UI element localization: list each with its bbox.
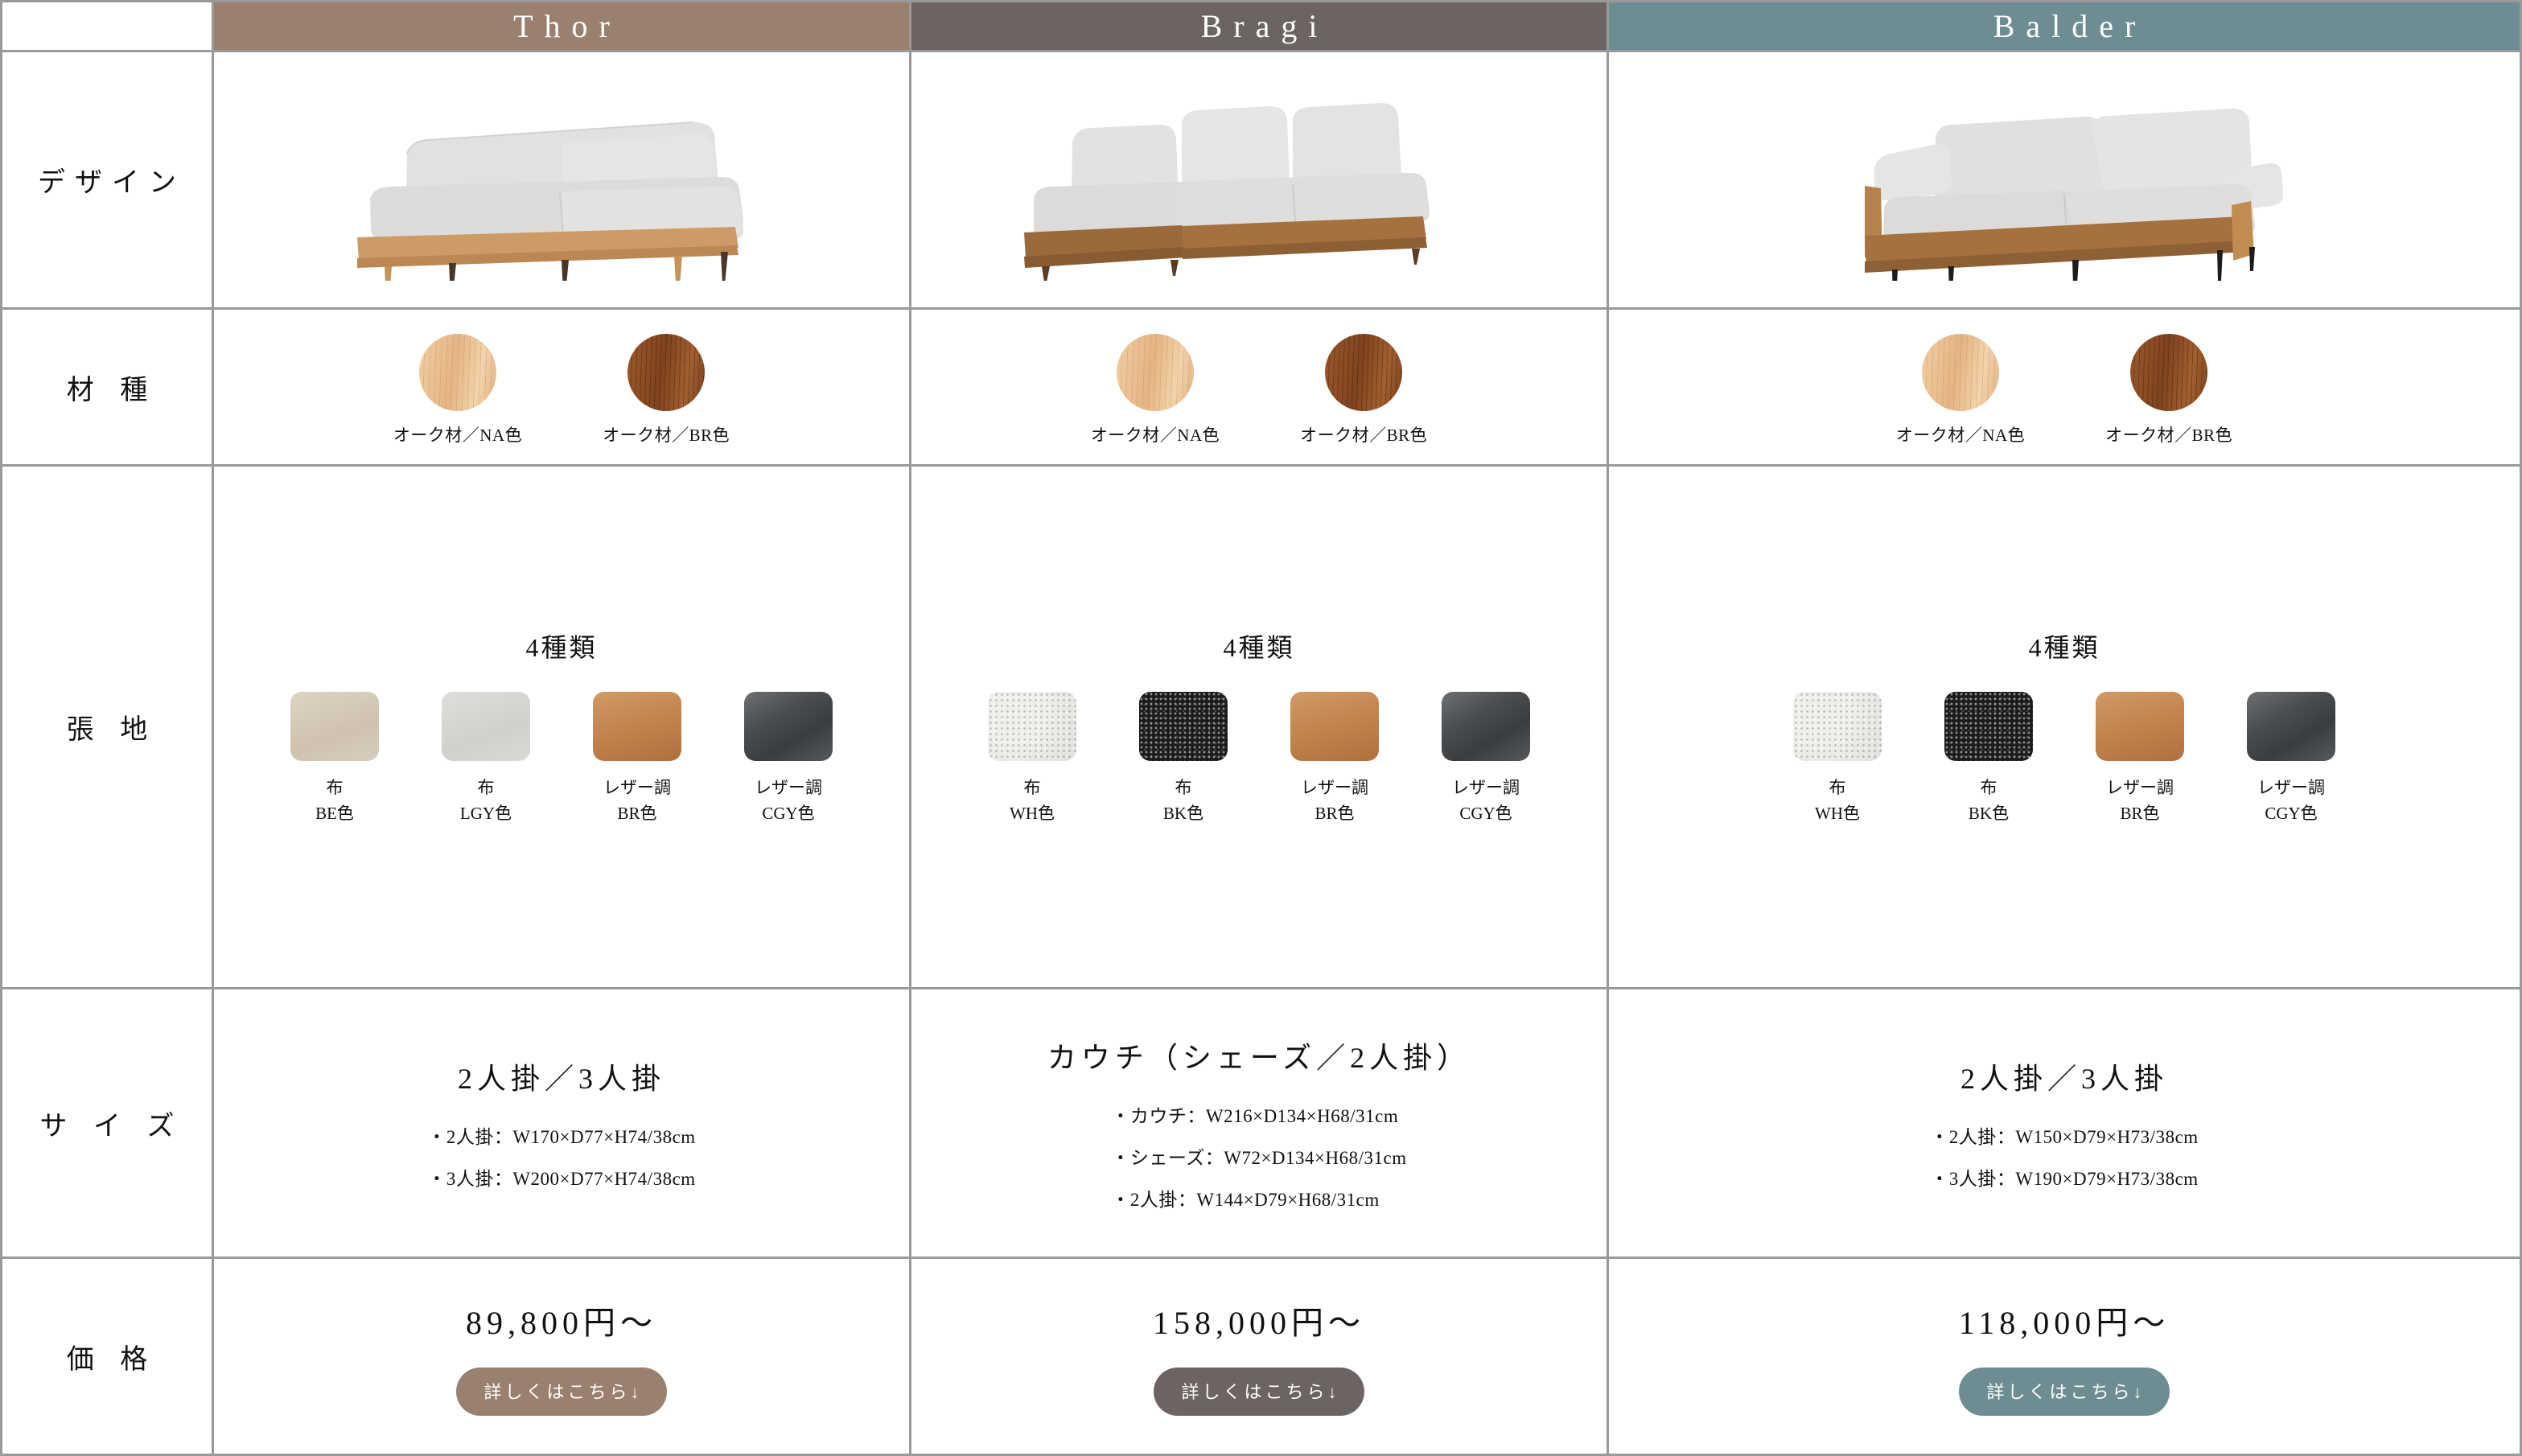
detail-link-button-balder[interactable]: 詳しくはこちら↓ (1959, 1368, 2169, 1416)
fabric-swatch-item[interactable]: レザー調 BR色 (1282, 692, 1387, 826)
fabric-color-code: BK色 (1969, 804, 2009, 823)
fabric-swatch-item[interactable]: 布 WH色 (980, 692, 1084, 826)
boucle-white-swatch-icon (988, 692, 1076, 761)
row-label-text: 張 地 (57, 707, 158, 747)
leather-charcoal-gray-swatch-icon (1442, 692, 1530, 761)
fabric-type: レザー調 (2106, 778, 2174, 797)
row-label-text: 材 種 (57, 368, 158, 407)
size-detail-list: ・2人掛：W170×D77×H74/38cm ・3人掛：W200×D77×H74… (427, 1121, 695, 1191)
fabric-swatch-label: 布 WH色 (1815, 775, 1860, 826)
oak-natural-swatch-icon (419, 334, 496, 411)
fabric-type: レザー調 (755, 778, 822, 797)
fabric-color-code: CGY色 (762, 804, 814, 823)
fabric-swatch-label: レザー調 CGY色 (755, 775, 822, 826)
fabric-type: レザー調 (1452, 778, 1520, 797)
thor-sofa-illustration (320, 80, 803, 281)
design-cell-thor (214, 52, 911, 310)
fabric-type: 布 (1829, 778, 1846, 797)
oak-brown-swatch-icon (1325, 334, 1402, 411)
size-title: 2人掛／3人掛 (1960, 1055, 2168, 1097)
size-group: 2人掛／3人掛 ・2人掛：W150×D79×H73/38cm ・3人掛：W190… (1609, 989, 2520, 1257)
upholstery-group: 4種類 布 BE色 布 LGY色 (214, 467, 909, 987)
size-cell-balder: 2人掛／3人掛 ・2人掛：W150×D79×H73/38cm ・3人掛：W190… (1609, 989, 2522, 1259)
size-group: 2人掛／3人掛 ・2人掛：W170×D77×H74/38cm ・3人掛：W200… (214, 989, 909, 1257)
fabric-swatch-group: 布 WH色 布 BK色 レザー調 BR色 (1785, 692, 2343, 826)
leather-brown-swatch-icon (2096, 692, 2184, 761)
size-title: 2人掛／3人掛 (458, 1055, 665, 1097)
fabric-swatch-item[interactable]: 布 BK色 (1936, 692, 2041, 826)
wood-swatch-label: オーク材／BR色 (2105, 422, 2232, 446)
wood-swatch-group: オーク材／NA色 オーク材／BR色 (1609, 327, 2520, 446)
material-cell-bragi: オーク材／NA色 オーク材／BR色 (911, 310, 1609, 467)
wood-swatch-group: オーク材／NA色 オーク材／BR色 (911, 327, 1607, 446)
size-cell-thor: 2人掛／3人掛 ・2人掛：W170×D77×H74/38cm ・3人掛：W200… (214, 989, 911, 1259)
fabric-swatch-item[interactable]: 布 WH色 (1785, 692, 1890, 826)
row-label-text: サ イ ズ (31, 1104, 184, 1143)
fabric-swatch-label: レザー調 BR色 (2106, 775, 2174, 826)
price-group: 158,000円〜 詳しくはこちら↓ (911, 1259, 1607, 1454)
column-header-bragi: Bragi (911, 0, 1609, 52)
fabric-color-code: LGY色 (460, 804, 512, 823)
upholstery-cell-balder: 4種類 布 WH色 布 BK色 (1609, 467, 2522, 989)
size-detail-item: ・シェーズ：W72×D134×H68/31cm (1111, 1142, 1406, 1170)
material-cell-thor: オーク材／NA色 オーク材／BR色 (214, 310, 911, 467)
size-title: カウチ（シェーズ／2人掛） (1047, 1034, 1471, 1076)
boucle-white-swatch-icon (1793, 692, 1882, 761)
fabric-color-code: BR色 (617, 804, 656, 823)
upholstery-group: 4種類 布 WH色 布 BK色 (1609, 467, 2520, 987)
fabric-swatch-label: レザー調 BR色 (603, 775, 671, 826)
price-cell-balder: 118,000円〜 詳しくはこちら↓ (1609, 1259, 2522, 1456)
fabric-swatch-item[interactable]: レザー調 BR色 (585, 692, 689, 826)
row-label-design: デザイン (0, 52, 214, 310)
row-label-upholstery: 張 地 (0, 467, 214, 989)
size-detail-item: ・2人掛：W144×D79×H68/31cm (1111, 1184, 1406, 1211)
wood-swatch-item[interactable]: オーク材／NA色 (1896, 334, 2025, 446)
leather-charcoal-gray-swatch-icon (2247, 692, 2335, 761)
fabric-swatch-item[interactable]: 布 BK色 (1131, 692, 1236, 826)
fabric-color-code: WH色 (1815, 804, 1860, 823)
sofa-image-thor (214, 52, 909, 307)
balder-sofa-illustration (1815, 80, 2314, 281)
fabric-color-code: BR色 (2120, 804, 2159, 823)
fabric-type: 布 (327, 778, 344, 797)
wood-swatch-label: オーク材／NA色 (1091, 422, 1220, 446)
oak-brown-swatch-icon (627, 334, 705, 411)
leather-brown-swatch-icon (593, 692, 681, 761)
row-label-text: デザイン (28, 160, 186, 199)
fabric-type: レザー調 (2257, 778, 2325, 797)
fabric-type: 布 (477, 778, 494, 797)
fabric-swatch-label: 布 LGY色 (460, 775, 512, 826)
wood-swatch-item[interactable]: オーク材／NA色 (393, 334, 522, 446)
leather-brown-swatch-icon (1290, 692, 1379, 761)
sofa-image-bragi (911, 52, 1607, 307)
row-label-size: サ イ ズ (0, 989, 214, 1259)
boucle-black-swatch-icon (1944, 692, 2033, 761)
material-cell-balder: オーク材／NA色 オーク材／BR色 (1609, 310, 2522, 467)
fabric-color-code: BE色 (315, 804, 354, 823)
design-cell-bragi (911, 52, 1609, 310)
leather-charcoal-gray-swatch-icon (744, 692, 833, 761)
brand-name-label: Thor (502, 7, 621, 45)
row-label-text: 価 格 (57, 1337, 158, 1376)
fabric-swatch-item[interactable]: 布 LGY色 (434, 692, 538, 826)
row-label-price: 価 格 (0, 1259, 214, 1456)
size-cell-bragi: カウチ（シェーズ／2人掛） ・カウチ：W216×D134×H68/31cm ・シ… (911, 989, 1609, 1259)
fabric-swatch-label: レザー調 CGY色 (2257, 775, 2325, 826)
fabric-swatch-label: 布 WH色 (1010, 775, 1055, 826)
size-detail-item: ・2人掛：W150×D79×H73/38cm (1930, 1121, 2198, 1149)
sofa-image-balder (1609, 52, 2520, 307)
wood-swatch-group: オーク材／NA色 オーク材／BR色 (214, 327, 909, 446)
fabric-type: レザー調 (1301, 778, 1368, 797)
price-group: 118,000円〜 詳しくはこちら↓ (1609, 1259, 2520, 1454)
column-header-balder: Balder (1609, 0, 2522, 52)
upholstery-group: 4種類 布 WH色 布 BK色 (911, 467, 1607, 987)
wood-swatch-label: オーク材／NA色 (393, 422, 522, 446)
fabric-swatch-group: 布 BE色 布 LGY色 レザー調 BR色 (282, 692, 841, 826)
bragi-sofa-illustration (1010, 80, 1508, 281)
fabric-light-gray-swatch-icon (442, 692, 530, 761)
size-detail-item: ・3人掛：W200×D77×H74/38cm (427, 1163, 695, 1191)
fabric-color-code: BK色 (1163, 804, 1203, 823)
wood-swatch-item[interactable]: オーク材／BR色 (603, 334, 730, 446)
fabric-swatch-item[interactable]: レザー調 BR色 (2088, 692, 2192, 826)
detail-link-button-thor[interactable]: 詳しくはこちら↓ (456, 1368, 666, 1416)
oak-natural-swatch-icon (1922, 334, 1999, 411)
detail-link-button-bragi[interactable]: 詳しくはこちら↓ (1154, 1368, 1364, 1416)
upholstery-cell-thor: 4種類 布 BE色 布 LGY色 (214, 467, 911, 989)
fabric-swatch-item[interactable]: レザー調 CGY色 (736, 692, 841, 826)
upholstery-cell-bragi: 4種類 布 WH色 布 BK色 (911, 467, 1609, 989)
price-value: 118,000円〜 (1959, 1297, 2170, 1343)
price-cell-bragi: 158,000円〜 詳しくはこちら↓ (911, 1259, 1609, 1456)
upholstery-count-label: 4種類 (1223, 627, 1294, 664)
wood-swatch-item[interactable]: オーク材／BR色 (2105, 334, 2232, 446)
fabric-color-code: CGY色 (2265, 804, 2317, 823)
fabric-type: レザー調 (603, 778, 671, 797)
size-detail-item: ・2人掛：W170×D77×H74/38cm (427, 1121, 695, 1149)
fabric-color-code: BR色 (1314, 804, 1354, 823)
wood-swatch-item[interactable]: オーク材／NA色 (1091, 334, 1220, 446)
wood-swatch-label: オーク材／BR色 (1300, 422, 1427, 446)
brand-name-label: Bragi (1190, 7, 1329, 45)
fabric-type: 布 (1024, 778, 1041, 797)
oak-brown-swatch-icon (2130, 334, 2207, 411)
upholstery-count-label: 4種類 (2028, 627, 2100, 664)
size-detail-item: ・カウチ：W216×D134×H68/31cm (1111, 1100, 1406, 1128)
column-header-thor: Thor (214, 0, 911, 52)
row-label-material: 材 種 (0, 310, 214, 467)
size-group: カウチ（シェーズ／2人掛） ・カウチ：W216×D134×H68/31cm ・シ… (911, 989, 1607, 1257)
fabric-swatch-label: レザー調 BR色 (1301, 775, 1368, 826)
upholstery-count-label: 4種類 (525, 627, 597, 664)
wood-swatch-label: オーク材／BR色 (603, 422, 730, 446)
price-value: 89,800円〜 (466, 1297, 657, 1343)
fabric-swatch-group: 布 WH色 布 BK色 レザー調 BR色 (980, 692, 1538, 826)
price-cell-thor: 89,800円〜 詳しくはこちら↓ (214, 1259, 911, 1456)
sofa-comparison-table: Thor Bragi Balder デザイン (0, 0, 2522, 1456)
fabric-swatch-item[interactable]: レザー調 CGY色 (2239, 692, 2343, 826)
size-detail-list: ・カウチ：W216×D134×H68/31cm ・シェーズ：W72×D134×H… (1111, 1100, 1406, 1211)
fabric-type: 布 (1175, 778, 1192, 797)
price-value: 158,000円〜 (1153, 1297, 1365, 1343)
fabric-swatch-item[interactable]: 布 BE色 (282, 692, 387, 826)
fabric-beige-swatch-icon (290, 692, 379, 761)
size-detail-item: ・3人掛：W190×D79×H73/38cm (1930, 1163, 2198, 1191)
fabric-swatch-label: 布 BE色 (315, 775, 354, 826)
fabric-swatch-label: 布 BK色 (1163, 775, 1203, 826)
fabric-type: 布 (1981, 778, 1997, 797)
price-group: 89,800円〜 詳しくはこちら↓ (214, 1259, 909, 1454)
fabric-swatch-item[interactable]: レザー調 CGY色 (1434, 692, 1538, 826)
wood-swatch-label: オーク材／NA色 (1896, 422, 2025, 446)
fabric-swatch-label: レザー調 CGY色 (1452, 775, 1520, 826)
wood-swatch-item[interactable]: オーク材／BR色 (1300, 334, 1427, 446)
brand-name-label: Balder (1982, 7, 2147, 45)
design-cell-balder (1609, 52, 2522, 310)
fabric-swatch-label: 布 BK色 (1969, 775, 2009, 826)
fabric-color-code: WH色 (1010, 804, 1055, 823)
oak-natural-swatch-icon (1117, 334, 1194, 411)
size-detail-list: ・2人掛：W150×D79×H73/38cm ・3人掛：W190×D79×H73… (1930, 1121, 2198, 1191)
fabric-color-code: CGY色 (1459, 804, 1512, 823)
boucle-black-swatch-icon (1139, 692, 1228, 761)
table-corner-cell (0, 0, 214, 52)
